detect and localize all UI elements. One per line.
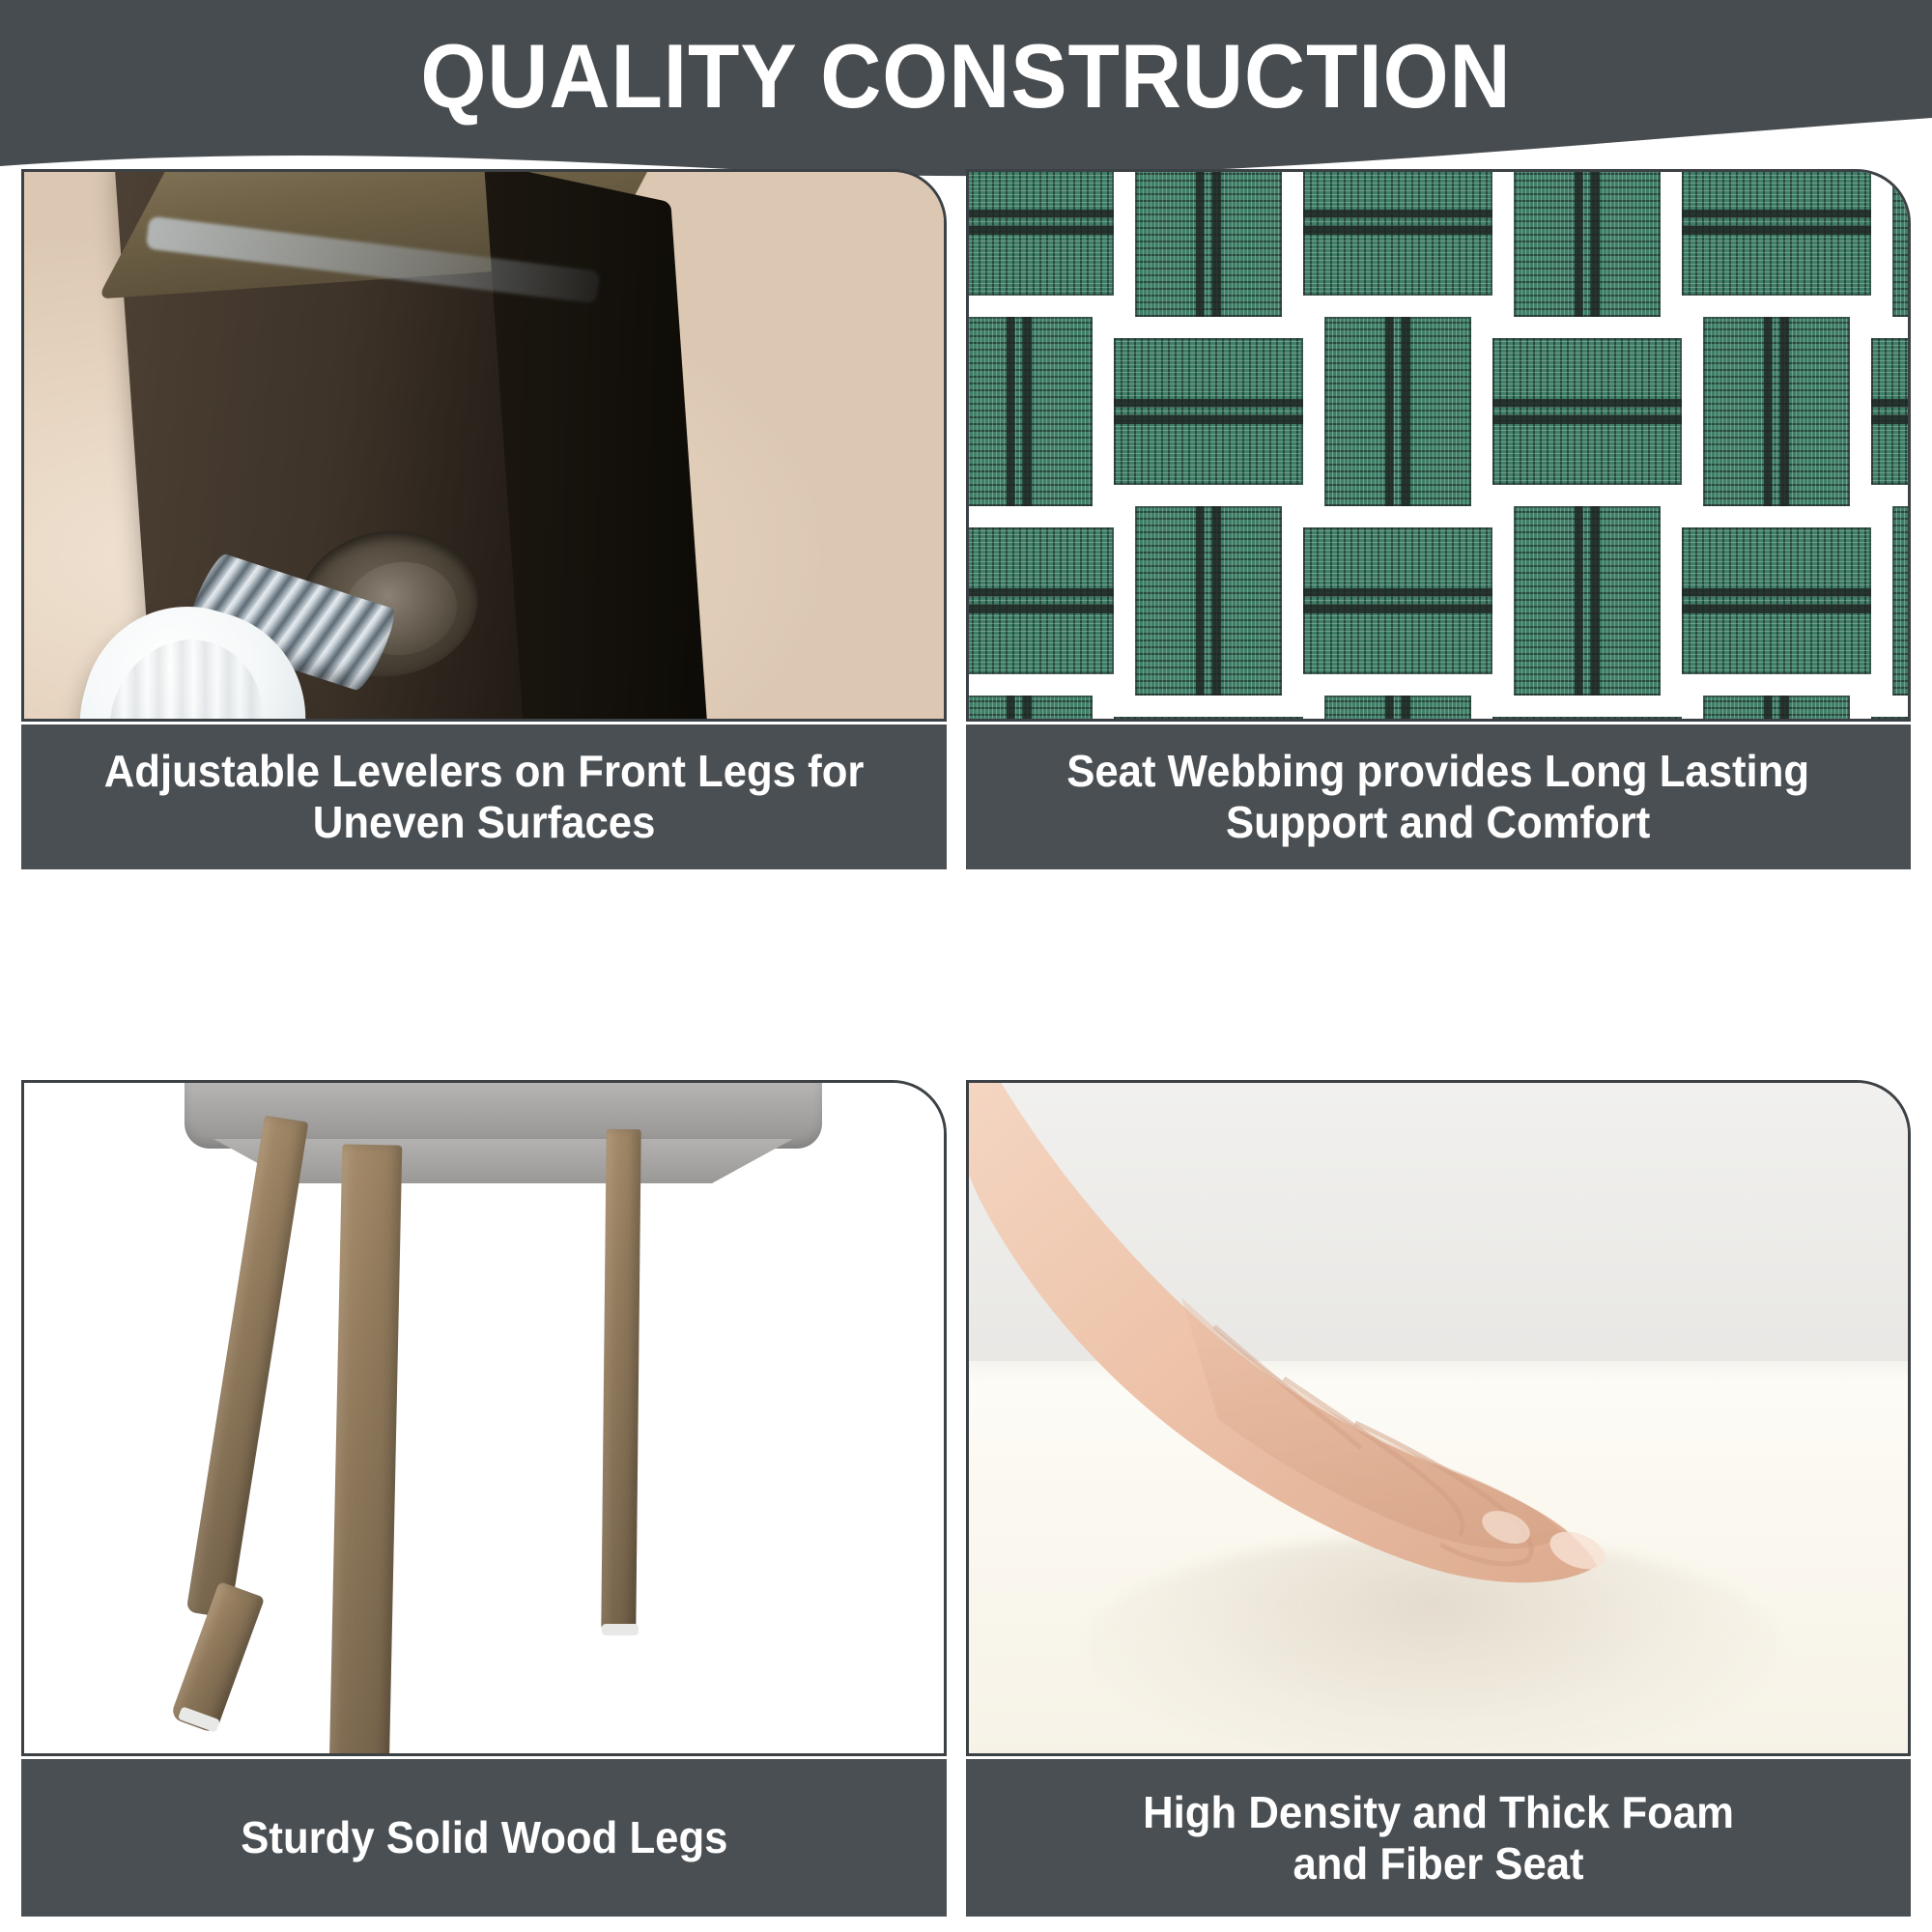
webbing-accent-stripe	[1303, 210, 1492, 235]
webbing-accent-stripe	[1007, 696, 1032, 722]
feature-panel-grid: Adjustable Levelers on Front Legs for Un…	[0, 0, 1932, 1932]
webbing-strap-v	[966, 317, 1093, 506]
webbing-accent-stripe	[1492, 399, 1682, 424]
webbing-accent-stripe	[1196, 169, 1221, 317]
webbing-strap-v	[1892, 506, 1911, 696]
webbing-strap-h	[1114, 717, 1303, 722]
webbing-accent-stripe	[1682, 210, 1871, 235]
webbing-strap-v	[1703, 696, 1850, 722]
webbing-accent-stripe	[1114, 399, 1303, 424]
webbing-accent-stripe	[966, 210, 1114, 235]
webbing-accent-stripe	[1303, 588, 1492, 613]
panel-1-caption-line-1: Adjustable Levelers on Front Legs for	[104, 746, 865, 797]
hand-pressing-foam-seat-photo	[966, 1080, 1911, 1756]
webbing-strap-v	[1324, 696, 1471, 722]
chair-leg-foot-right	[602, 1624, 639, 1635]
webbing-strap-v	[1514, 506, 1661, 696]
webbing-strap-h	[1871, 717, 1911, 722]
feature-panel-seat-webbing: Seat Webbing provides Long Lasting Suppo…	[966, 169, 1911, 1063]
panel-2-caption: Seat Webbing provides Long Lasting Suppo…	[966, 724, 1911, 869]
solid-wood-chair-legs-photo	[21, 1080, 947, 1756]
webbing-strap-v	[1892, 169, 1911, 317]
feature-panel-solid-wood-legs: Sturdy Solid Wood Legs	[21, 1080, 947, 1920]
foam-photo-background	[969, 1083, 1908, 1753]
webbing-accent-stripe	[1575, 169, 1600, 317]
webbing-strap-v	[1324, 317, 1471, 506]
webbing-strap-h	[1303, 169, 1492, 296]
webbing-accent-stripe	[1007, 317, 1032, 506]
webbing-strap-v	[1135, 506, 1282, 696]
webbing-accent-stripe	[1196, 506, 1221, 696]
panel-4-caption-line-2: and Fiber Seat	[1143, 1838, 1734, 1889]
webbing-weave-pattern	[969, 172, 1908, 719]
webbing-strap-v	[1514, 169, 1661, 317]
wood-leg-shadow-side	[484, 169, 714, 722]
webbing-accent-stripe	[1575, 506, 1600, 696]
webbing-strap-h	[1871, 338, 1911, 485]
panel-3-caption-line-1: Sturdy Solid Wood Legs	[241, 1812, 727, 1863]
feature-panel-high-density-foam: High Density and Thick Foam and Fiber Se…	[966, 1080, 1911, 1920]
webbing-strap-v	[1135, 169, 1282, 317]
webbing-accent-stripe	[1682, 588, 1871, 613]
webbing-strap-h	[1114, 338, 1303, 485]
panel-4-caption: High Density and Thick Foam and Fiber Se…	[966, 1759, 1911, 1917]
webbing-accent-stripe	[1764, 317, 1789, 506]
panel-4-caption-line-1: High Density and Thick Foam	[1143, 1787, 1734, 1838]
panel-3-caption: Sturdy Solid Wood Legs	[21, 1759, 947, 1917]
webbing-strap-h	[966, 527, 1114, 674]
webbing-accent-stripe	[966, 588, 1114, 613]
webbing-accent-stripe	[1764, 696, 1789, 722]
webbing-strap-h	[1492, 338, 1682, 485]
webbing-accent-stripe	[1871, 399, 1911, 424]
panel-1-caption-line-2: Uneven Surfaces	[104, 797, 865, 848]
webbing-strap-h	[1682, 169, 1871, 296]
adjustable-leveler-on-wood-leg-photo	[21, 169, 947, 722]
chair-leg-front-left	[186, 1116, 309, 1619]
webbing-accent-stripe	[1385, 317, 1410, 506]
chair-leg-center	[328, 1144, 403, 1756]
webbing-strap-h	[1492, 717, 1682, 722]
leveler-photo-background	[24, 172, 944, 719]
panel-2-caption-line-2: Support and Comfort	[1067, 797, 1810, 848]
legs-photo-background	[24, 1083, 944, 1753]
webbing-strap-h	[966, 169, 1114, 296]
hand-illustration	[966, 1080, 1674, 1701]
chair-leg-right	[601, 1129, 640, 1632]
feature-panel-adjustable-levelers: Adjustable Levelers on Front Legs for Un…	[21, 169, 947, 1063]
panel-1-caption: Adjustable Levelers on Front Legs for Un…	[21, 724, 947, 869]
webbing-accent-stripe	[1385, 696, 1410, 722]
webbing-strap-v	[1703, 317, 1850, 506]
panel-2-caption-line-1: Seat Webbing provides Long Lasting	[1067, 746, 1810, 797]
webbing-strap-h	[1303, 527, 1492, 674]
webbing-strap-v	[966, 696, 1093, 722]
webbing-strap-h	[1682, 527, 1871, 674]
green-seat-webbing-photo	[966, 169, 1911, 722]
